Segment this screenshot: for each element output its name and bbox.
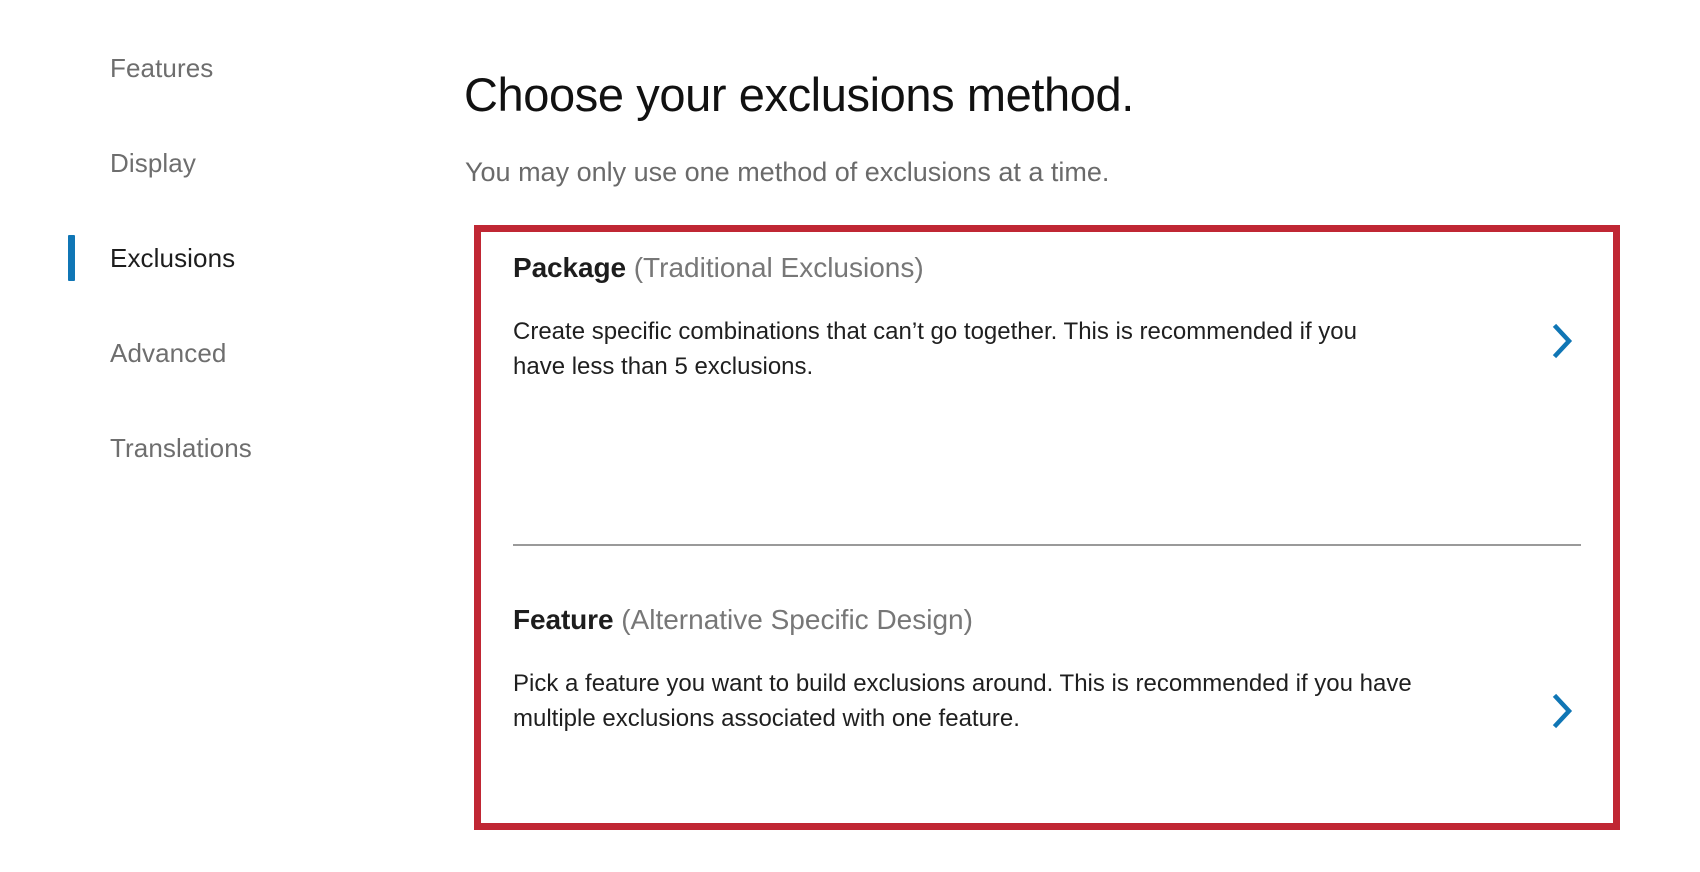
option-heading-package: Package (Traditional Exclusions) — [513, 250, 1413, 286]
sidebar-item-label: Translations — [110, 433, 252, 463]
settings-page: Features Display Exclusions Advanced Tra… — [0, 0, 1700, 872]
sidebar-item-translations[interactable]: Translations — [0, 426, 440, 470]
option-qualifier: (Alternative Specific Design) — [621, 604, 973, 635]
sidebar-item-features[interactable]: Features — [0, 46, 440, 90]
chevron-right-icon-feature[interactable] — [1541, 689, 1585, 733]
option-qualifier: (Traditional Exclusions) — [634, 252, 924, 283]
page-subtitle: You may only use one method of exclusion… — [465, 155, 1109, 189]
option-description: Pick a feature you want to build exclusi… — [513, 666, 1413, 736]
sidebar-item-label: Advanced — [110, 338, 226, 368]
chevron-right-icon-package[interactable] — [1541, 319, 1585, 363]
sidebar-item-advanced[interactable]: Advanced — [0, 331, 440, 375]
option-heading-feature: Feature (Alternative Specific Design) — [513, 602, 1413, 638]
option-divider — [513, 544, 1581, 546]
chevron-right-icon — [1550, 321, 1576, 361]
sidebar-item-label: Exclusions — [110, 243, 235, 273]
page-title: Choose your exclusions method. — [464, 66, 1134, 124]
exclusions-method-panel: Package (Traditional Exclusions) Create … — [474, 225, 1620, 830]
option-title: Feature — [513, 604, 613, 635]
option-description: Create specific combinations that can’t … — [513, 314, 1413, 384]
chevron-right-icon — [1550, 691, 1576, 731]
sidebar-item-label: Features — [110, 53, 213, 83]
sidebar-item-exclusions[interactable]: Exclusions — [0, 236, 440, 280]
option-title: Package — [513, 252, 626, 283]
settings-sidebar: Features Display Exclusions Advanced Tra… — [0, 0, 440, 872]
active-indicator-bar — [68, 235, 75, 281]
option-row-feature[interactable]: Feature (Alternative Specific Design) Pi… — [481, 602, 1613, 736]
sidebar-item-display[interactable]: Display — [0, 141, 440, 185]
sidebar-item-label: Display — [110, 148, 196, 178]
main-content: Choose your exclusions method. You may o… — [440, 0, 1700, 872]
option-row-package[interactable]: Package (Traditional Exclusions) Create … — [481, 250, 1613, 384]
